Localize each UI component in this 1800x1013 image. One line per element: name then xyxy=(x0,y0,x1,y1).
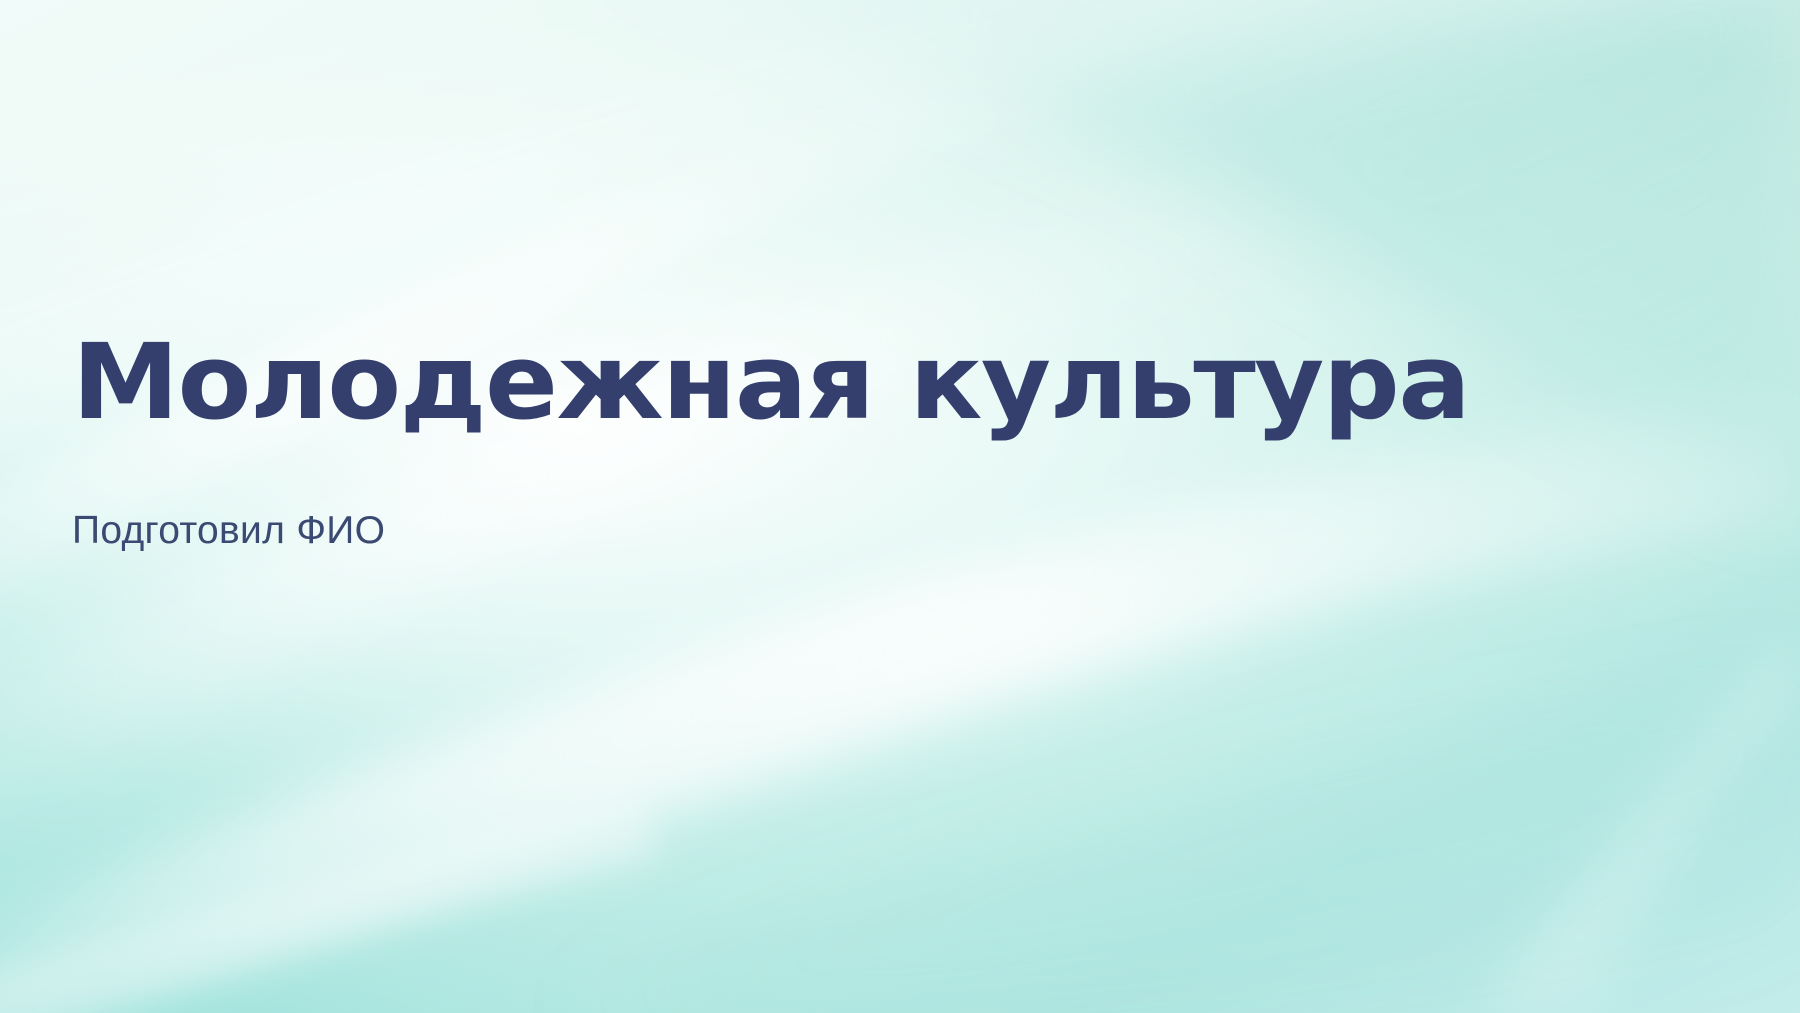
title-text-block: Молодежная культура Подготовил ФИО xyxy=(72,330,1712,553)
wave-shape-bottom-right-shadow xyxy=(560,680,1800,1013)
title-slide: Молодежная культура Подготовил ФИО xyxy=(0,0,1800,1013)
wave-streak-right xyxy=(1480,620,1800,1013)
wave-streak-bottom-left xyxy=(0,800,660,1013)
page-title: Молодежная культура xyxy=(72,330,1769,434)
slide-subtitle: Подготовил ФИО xyxy=(72,434,1712,553)
